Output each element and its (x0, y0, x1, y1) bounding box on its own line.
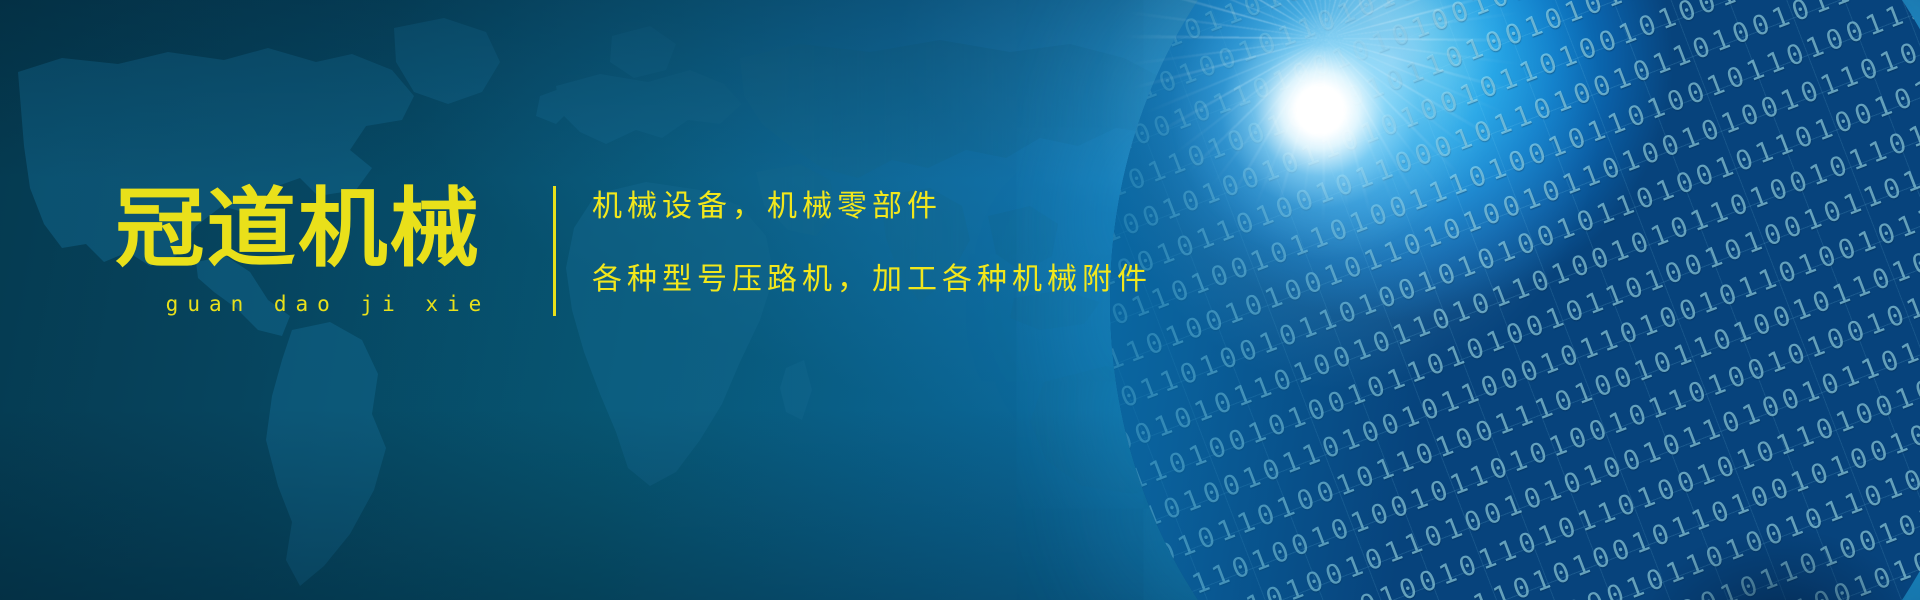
tagline-line-1: 机械设备，机械零部件 (592, 192, 1152, 222)
tagline-line-2: 各种型号压路机，加工各种机械附件 (592, 265, 1152, 295)
company-logo: 冠道机械 guan dao ji xie (115, 186, 525, 316)
banner-content: 冠道机械 guan dao ji xie 机械设备，机械零部件 各种型号压路机，… (0, 0, 1920, 600)
hero-banner: 1001011010010100101101010010110100101001… (0, 0, 1920, 600)
company-name-chinese: 冠道机械 (115, 186, 541, 272)
tagline-group: 机械设备，机械零部件 各种型号压路机，加工各种机械附件 (592, 192, 1152, 295)
vertical-divider (553, 186, 556, 316)
company-name-pinyin: guan dao ji xie (115, 292, 525, 316)
